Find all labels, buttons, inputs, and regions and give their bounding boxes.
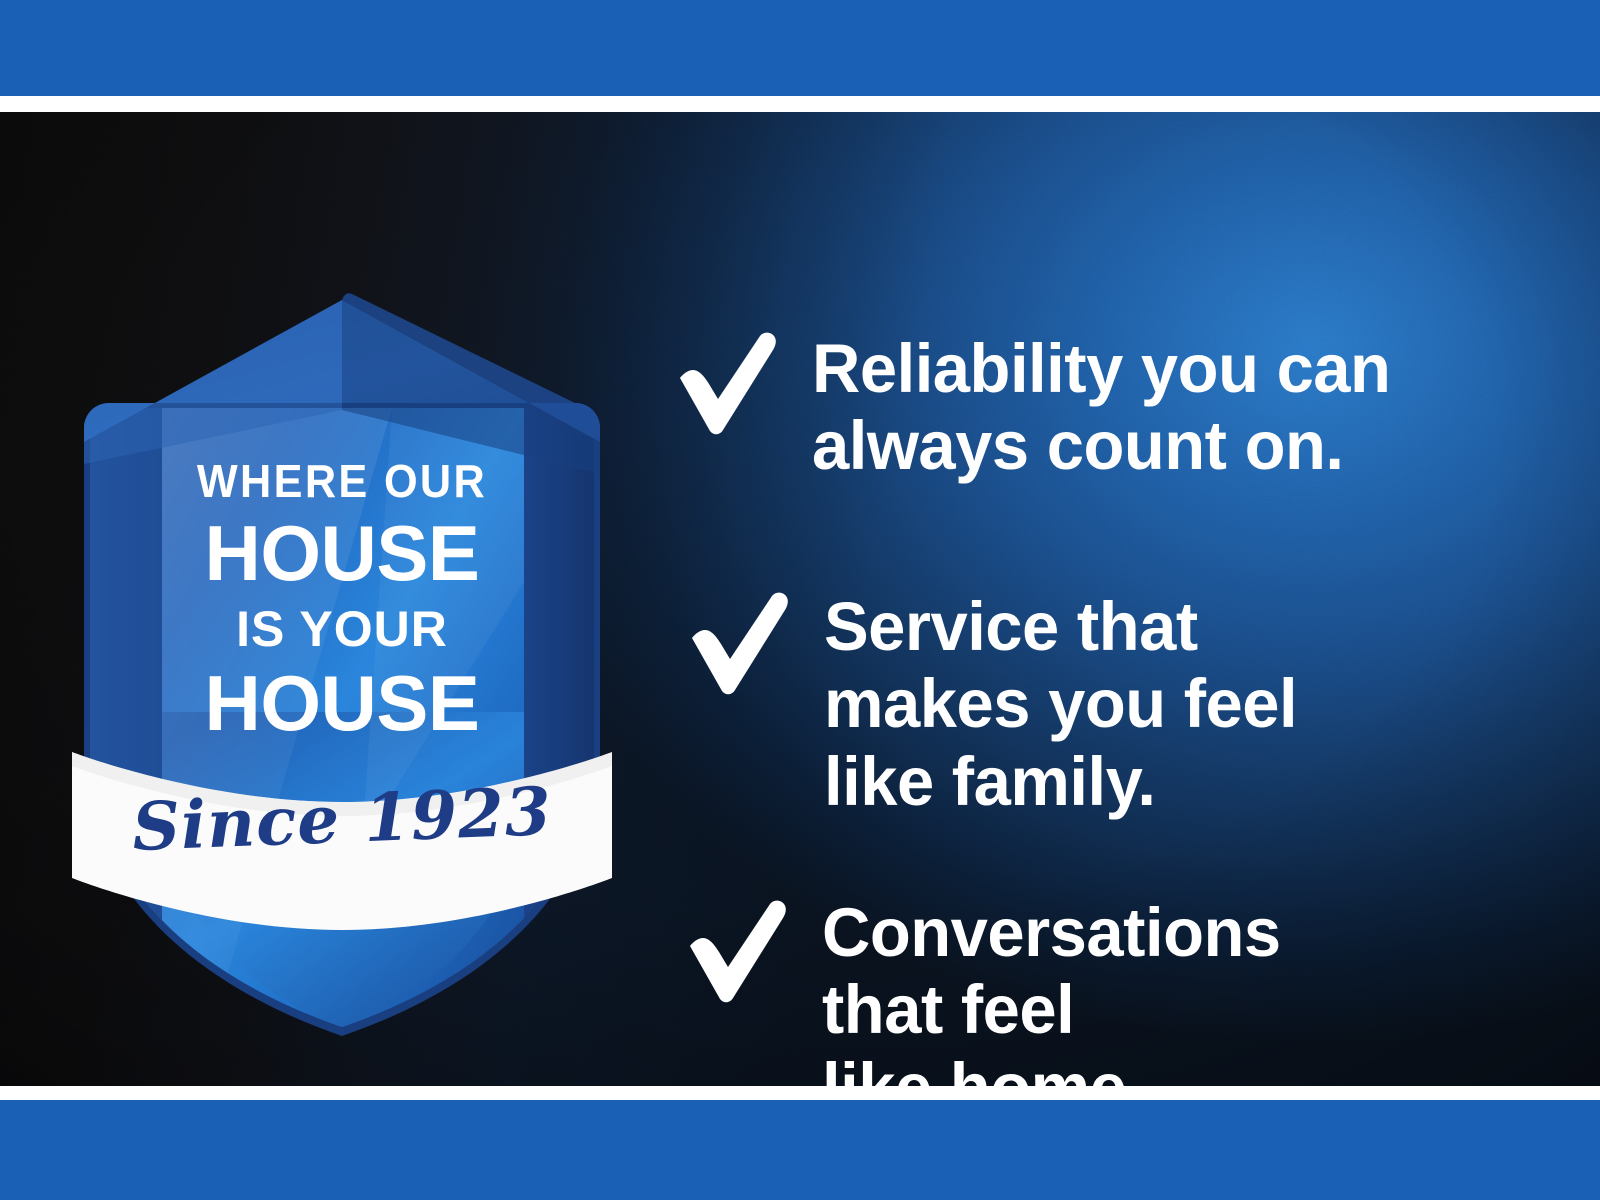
benefits-list: Reliability you can always count on. Ser…: [660, 224, 1540, 1086]
checkmark-icon: [668, 326, 786, 444]
benefit-item-reliability: Reliability you can always count on.: [668, 324, 1408, 485]
bottom-brand-bar: [0, 1100, 1600, 1200]
main-canvas: WHERE OUR HOUSE IS YOUR HOUSE Since 1923…: [0, 112, 1600, 1086]
top-brand-bar: [0, 0, 1600, 96]
shield-right-bevel: [524, 408, 594, 1027]
shield-badge-icon: [62, 282, 622, 1042]
benefit-text-conversations: Conversations that feel like home.: [822, 892, 1281, 1086]
shield-logo: WHERE OUR HOUSE IS YOUR HOUSE Since 1923: [62, 282, 622, 1042]
benefit-text-reliability: Reliability you can always count on.: [812, 324, 1390, 485]
promotional-graphic: WHERE OUR HOUSE IS YOUR HOUSE Since 1923…: [0, 0, 1600, 1200]
shield-left-bevel: [90, 408, 162, 1027]
checkmark-icon: [680, 586, 798, 704]
checkmark-icon: [678, 894, 796, 1012]
benefit-item-conversations: Conversations that feel like home.: [678, 892, 1295, 1086]
benefit-item-service: Service that makes you feel like family.: [680, 584, 1312, 820]
benefit-text-service: Service that makes you feel like family.: [824, 584, 1297, 820]
